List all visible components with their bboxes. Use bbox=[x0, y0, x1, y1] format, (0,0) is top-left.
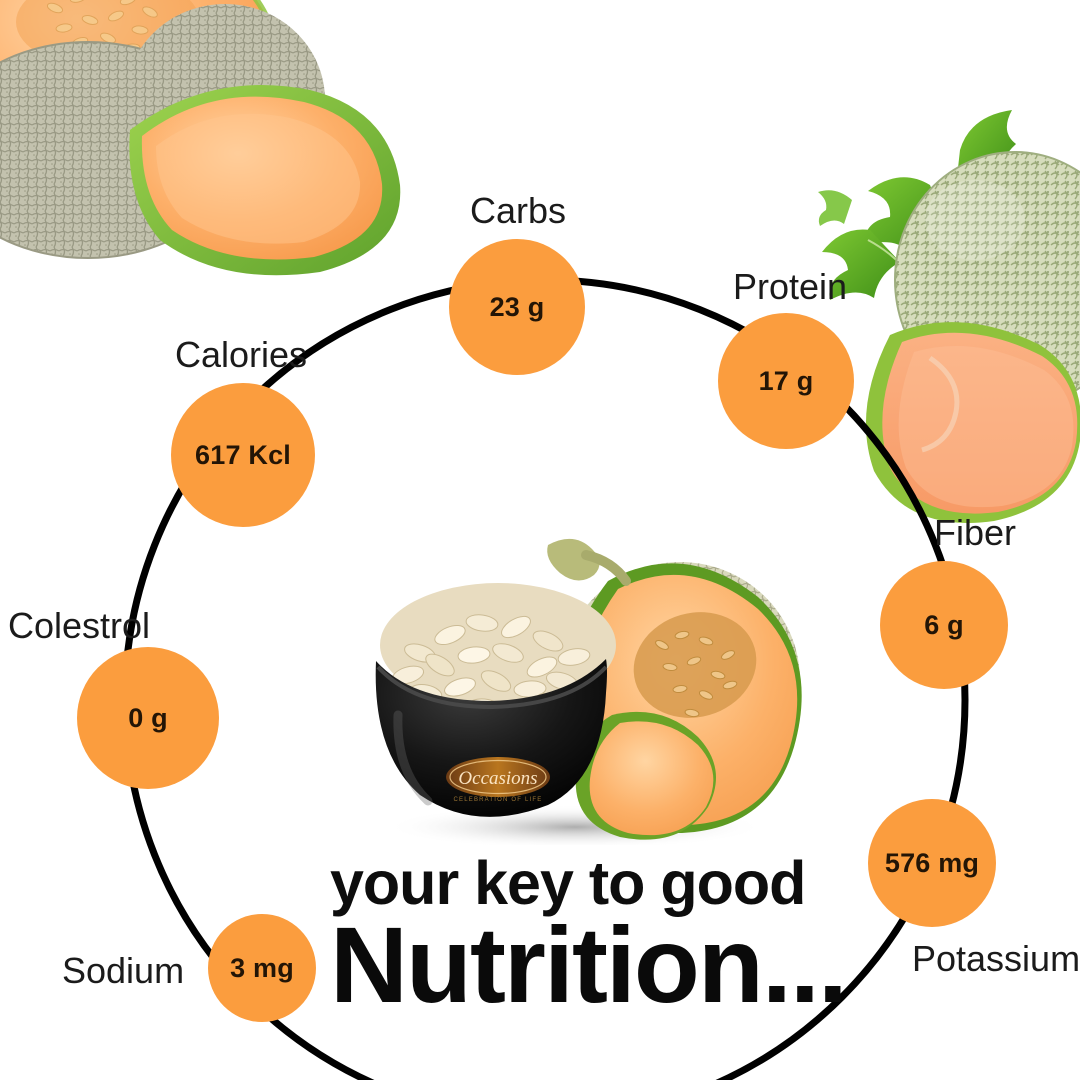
headline: your key to good Nutrition... bbox=[330, 855, 950, 1014]
nutrient-value-protein: 17 g bbox=[759, 366, 814, 397]
headline-line-2: Nutrition... bbox=[330, 915, 950, 1014]
nutrient-node-colestrol[interactable]: 0 g bbox=[77, 647, 219, 789]
nutrient-value-colestrol: 0 g bbox=[128, 703, 168, 734]
nutrient-value-carbs: 23 g bbox=[490, 292, 545, 323]
nutrient-node-fiber[interactable]: 6 g bbox=[880, 561, 1008, 689]
nutrient-label-calories: Calories bbox=[175, 334, 307, 376]
nutrient-node-carbs[interactable]: 23 g bbox=[449, 239, 585, 375]
nutrient-value-calories: 617 Kcl bbox=[195, 440, 291, 471]
nutrient-label-sodium: Sodium bbox=[62, 950, 184, 992]
nutrient-node-sodium[interactable]: 3 mg bbox=[208, 914, 316, 1022]
nutrient-value-sodium: 3 mg bbox=[230, 953, 294, 984]
nutrient-label-fiber: Fiber bbox=[934, 512, 1016, 554]
nutrient-node-calories[interactable]: 617 Kcl bbox=[171, 383, 315, 527]
nutrient-value-fiber: 6 g bbox=[924, 610, 964, 641]
infographic-canvas: Occasions CELEBRATION OF LIFE Carbs 23 g… bbox=[0, 0, 1080, 1080]
nutrient-label-carbs: Carbs bbox=[470, 190, 566, 232]
nutrient-label-protein: Protein bbox=[733, 266, 847, 308]
nutrient-node-protein[interactable]: 17 g bbox=[718, 313, 854, 449]
nutrient-label-colestrol: Colestrol bbox=[8, 605, 150, 647]
